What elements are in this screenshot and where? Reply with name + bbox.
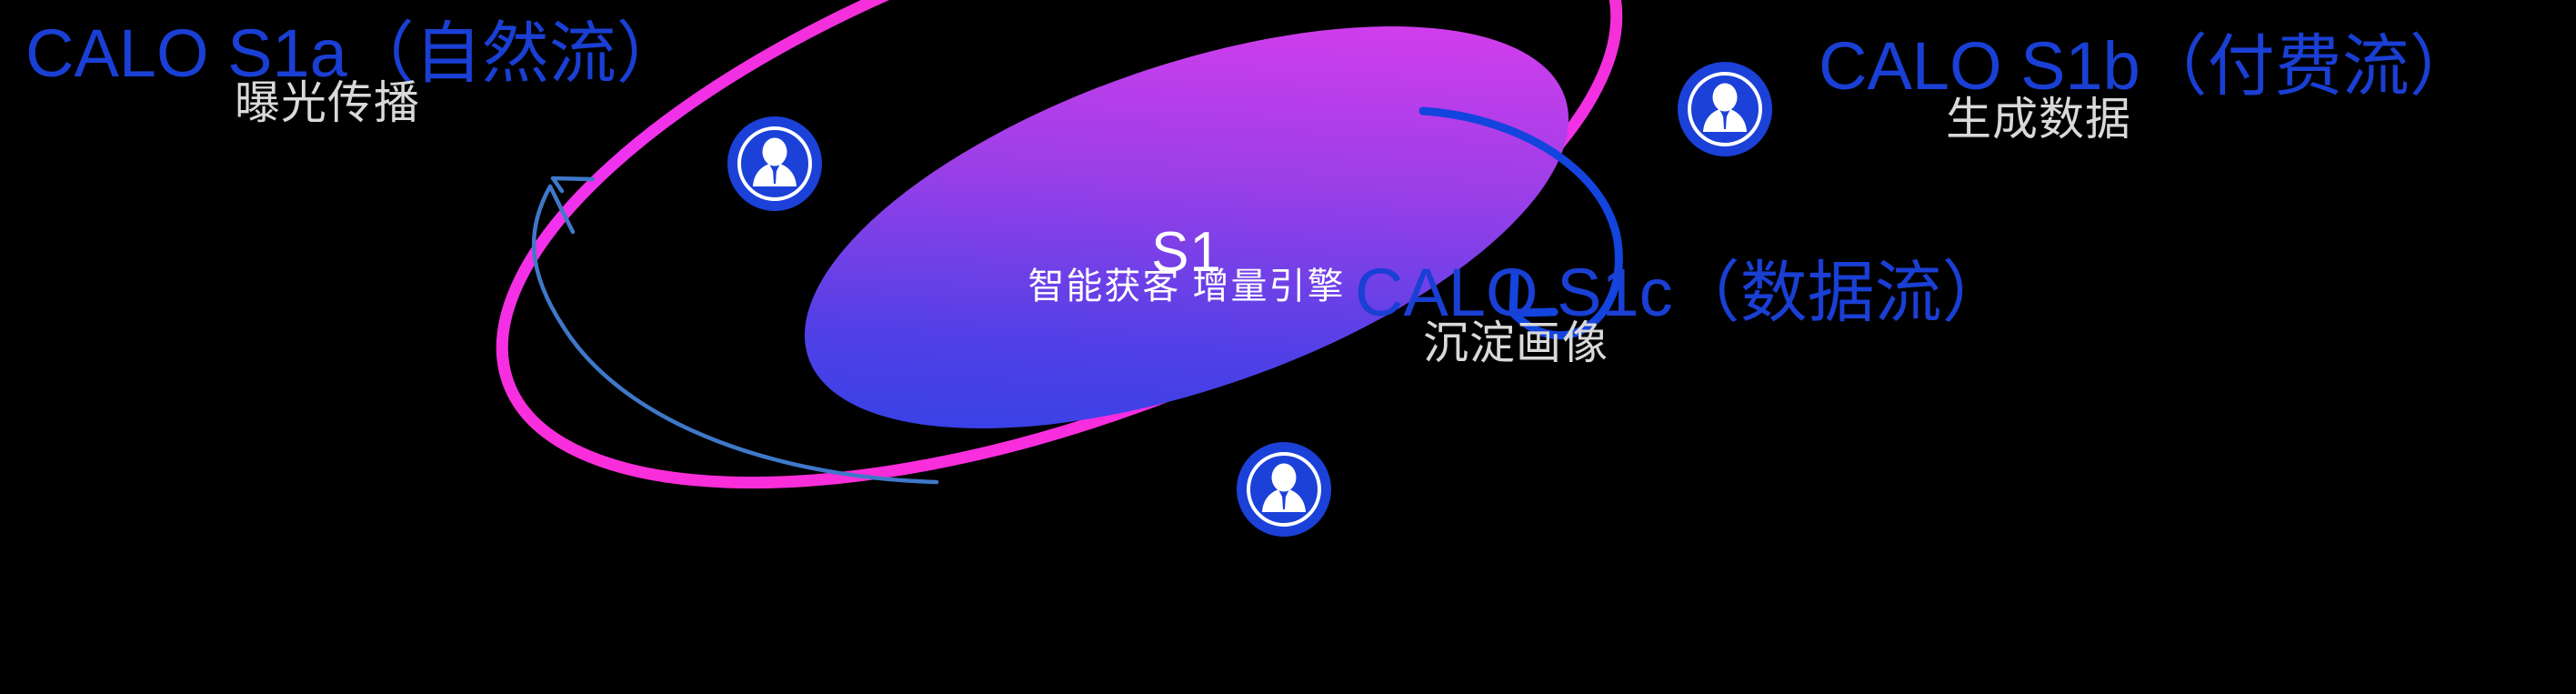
badge-s1c[interactable]: [1237, 442, 1331, 537]
badge-s1b[interactable]: [1678, 62, 1772, 156]
node-subtitle-s1a: 曝光传播: [235, 80, 420, 126]
node-title-s1b: CALO S1b（付费流）: [1819, 33, 2477, 100]
node-title-s1c: CALO S1c（数据流）: [1355, 259, 2010, 327]
node-subtitle-s1b: 生成数据: [1946, 96, 2131, 142]
badge-s1a[interactable]: [727, 116, 822, 211]
diagram-canvas: S1 智能获客 增量引擎 CALO S1a（自然流） 曝光传播 CALO S1b…: [0, 0, 2576, 694]
node-subtitle-s1c: 沉淀画像: [1423, 320, 1609, 366]
